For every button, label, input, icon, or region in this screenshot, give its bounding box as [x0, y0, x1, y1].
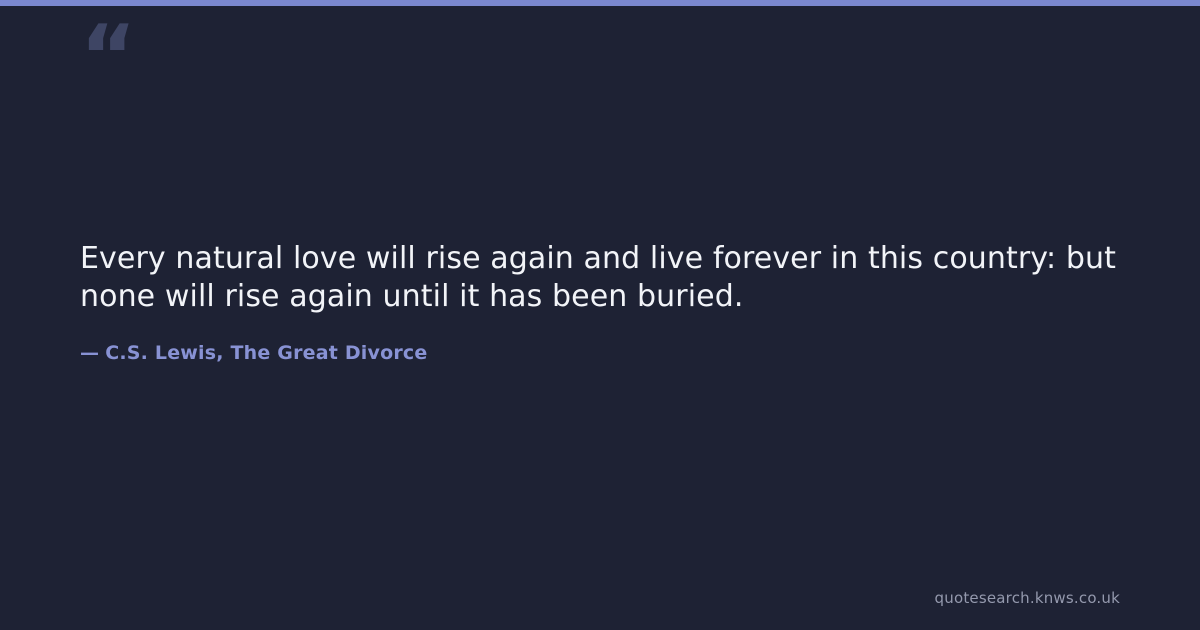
attribution-text: C.S. Lewis, The Great Divorce — [105, 342, 427, 364]
quote-content: Every natural love will rise again and l… — [80, 240, 1124, 366]
quote-attribution: —C.S. Lewis, The Great Divorce — [80, 316, 1124, 366]
em-dash: — — [80, 342, 99, 364]
quote-card: “ Every natural love will rise again and… — [0, 0, 1200, 630]
footer-site-url: quotesearch.knws.co.uk — [935, 588, 1120, 608]
quotation-mark-icon: “ — [80, 14, 136, 100]
top-accent-bar — [0, 0, 1200, 6]
quote-text: Every natural love will rise again and l… — [80, 240, 1124, 316]
